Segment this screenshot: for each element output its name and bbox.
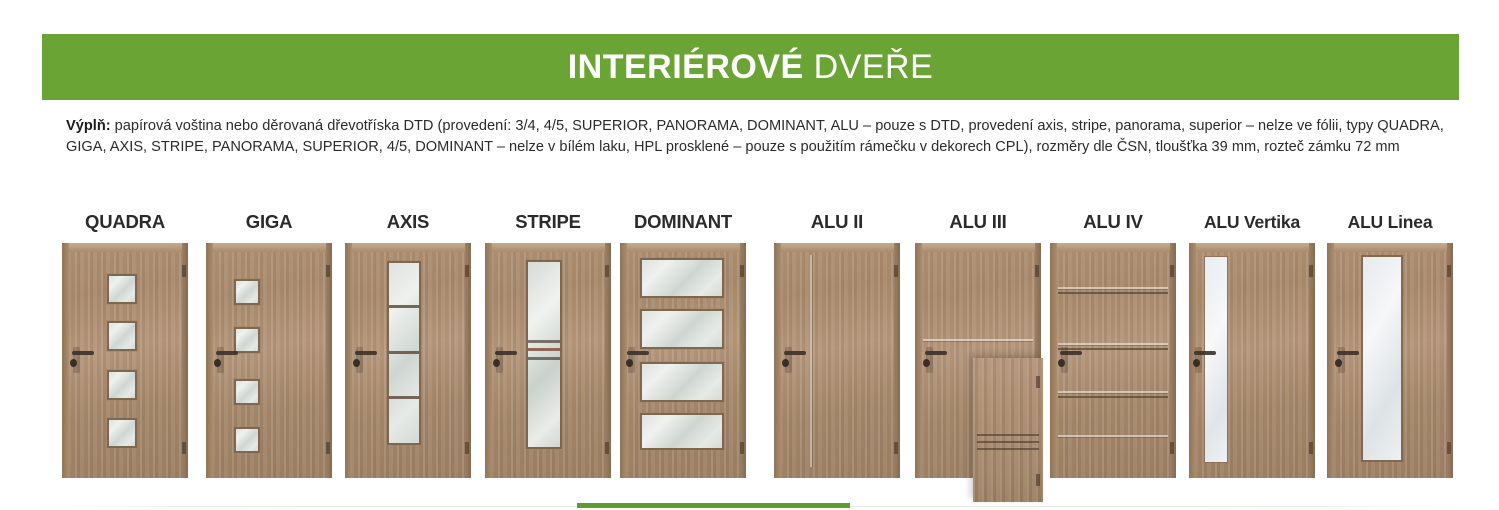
- door-keyhole: [626, 359, 633, 367]
- door-image-axis: [345, 243, 471, 478]
- door-handle: [72, 351, 94, 355]
- aluminium-inlay-horizontal: [1058, 435, 1168, 437]
- door-image-giga: [206, 243, 332, 478]
- description-lead-label: Výplň:: [66, 118, 111, 134]
- glass-panel: [1363, 257, 1401, 460]
- door-label-stripe: STRIPE: [485, 210, 611, 238]
- glass-muntin: [389, 351, 419, 354]
- door-card-alu-linea[interactable]: ALU Linea: [1327, 210, 1453, 478]
- door-left-jamb: [485, 243, 492, 478]
- door-hinge-bottom: [465, 442, 469, 454]
- door-keyhole: [1058, 359, 1065, 367]
- door-top-rail: [1196, 243, 1309, 252]
- door-hinge-bottom: [1036, 474, 1040, 486]
- glass-panel: [642, 364, 722, 400]
- door-left-jamb: [1327, 243, 1334, 478]
- door-top-rail: [352, 243, 465, 252]
- door-hinge-top: [1035, 265, 1039, 277]
- door-models-grid: QUADRA GIGA: [0, 210, 1499, 510]
- glass-stripe-line: [528, 357, 560, 360]
- door-left-jamb: [62, 243, 69, 478]
- door-handle: [1337, 351, 1359, 355]
- door-image-alu-iv: [1050, 243, 1176, 478]
- aluminium-inlay-vertical: [810, 255, 812, 467]
- door-top-rail: [213, 243, 326, 252]
- door-hinge-bottom: [182, 442, 186, 454]
- aluminium-inlay-horizontal: [1058, 391, 1168, 393]
- glass-stripe-line: [528, 348, 560, 351]
- door-handle: [1060, 351, 1082, 355]
- door-top-rail: [69, 243, 182, 252]
- description-body-text: papírová voština nebo děrovaná dřevotřís…: [66, 118, 1444, 155]
- door-handle: [1194, 351, 1216, 355]
- door-card-alu-vertika[interactable]: ALU Vertika: [1189, 210, 1315, 478]
- door-keyhole: [214, 359, 221, 367]
- glass-panel: [236, 329, 258, 351]
- footer-accent-bar: [577, 503, 850, 508]
- door-hinge-top: [894, 265, 898, 277]
- door-hinge-top: [1447, 265, 1451, 277]
- door-handle: [925, 351, 947, 355]
- door-label-axis: AXIS: [345, 210, 471, 238]
- glass-stripe-line: [528, 340, 560, 343]
- door-left-jamb: [206, 243, 213, 478]
- glass-panel: [1205, 257, 1227, 462]
- door-card-alu-iv[interactable]: ALU IV: [1050, 210, 1176, 478]
- aluminium-inlay-horizontal: [977, 448, 1039, 450]
- glass-panel: [642, 415, 722, 448]
- door-image-stripe: [485, 243, 611, 478]
- door-hinge-bottom: [894, 442, 898, 454]
- door-left-jamb: [1050, 243, 1057, 478]
- door-keyhole: [493, 359, 500, 367]
- aluminium-inlay-horizontal: [1058, 292, 1168, 294]
- door-image-alu-ii: [774, 243, 900, 478]
- door-handle: [216, 351, 238, 355]
- page-title-light: DVEŘE: [814, 48, 934, 86]
- door-image-alu-vertika: [1189, 243, 1315, 478]
- door-hinge-bottom: [605, 442, 609, 454]
- aluminium-inlay-horizontal: [923, 339, 1033, 341]
- glass-panel: [642, 311, 722, 347]
- door-label-giga: GIGA: [206, 210, 332, 238]
- door-top-rail: [1334, 243, 1447, 252]
- door-card-quadra[interactable]: QUADRA: [62, 210, 188, 478]
- glass-panel: [389, 263, 419, 443]
- door-left-jamb: [345, 243, 352, 478]
- glass-muntin: [389, 305, 419, 308]
- door-top-rail: [781, 243, 894, 252]
- door-hinge-bottom: [1447, 442, 1451, 454]
- door-card-giga[interactable]: GIGA: [206, 210, 332, 478]
- glass-panel: [109, 276, 135, 302]
- door-card-stripe[interactable]: STRIPE: [485, 210, 611, 478]
- door-label-alu-iii: ALU III: [915, 210, 1041, 238]
- door-left-jamb: [915, 243, 922, 478]
- door-hinge-top: [1170, 265, 1174, 277]
- door-hinge-top: [1309, 265, 1313, 277]
- door-keyhole: [923, 359, 930, 367]
- door-handle: [627, 351, 649, 355]
- door-card-alu-ii[interactable]: ALU II: [774, 210, 900, 478]
- door-handle: [495, 351, 517, 355]
- door-label-alu-linea: ALU Linea: [1327, 210, 1453, 238]
- glass-panel: [109, 372, 135, 398]
- door-image-dominant: [620, 243, 746, 478]
- glass-panel: [236, 281, 258, 303]
- door-label-alu-vertika: ALU Vertika: [1189, 210, 1315, 238]
- glass-panel: [528, 262, 560, 447]
- door-hinge-bottom: [1170, 442, 1174, 454]
- page-header-banner: INTERIÉROVÉ DVEŘE: [42, 34, 1459, 100]
- glass-muntin: [389, 396, 419, 399]
- door-handle: [355, 351, 377, 355]
- aluminium-inlay-horizontal: [977, 434, 1039, 436]
- door-label-alu-ii: ALU II: [774, 210, 900, 238]
- door-top-rail: [922, 243, 1035, 252]
- door-hinge-bottom: [740, 442, 744, 454]
- door-keyhole: [782, 359, 789, 367]
- door-label-alu-iv: ALU IV: [1050, 210, 1176, 238]
- glass-panel: [236, 381, 258, 403]
- door-keyhole: [1193, 359, 1200, 367]
- aluminium-inlay-horizontal: [977, 441, 1039, 443]
- aluminium-inlay-horizontal: [1058, 343, 1168, 345]
- page-title-bold: INTERIÉROVÉ: [568, 48, 804, 86]
- door-keyhole: [1335, 359, 1342, 367]
- door-hinge-top: [740, 265, 744, 277]
- door-label-dominant: DOMINANT: [620, 210, 746, 238]
- door-image-quadra: [62, 243, 188, 478]
- door-hinge-top: [326, 265, 330, 277]
- door-left-jamb: [774, 243, 781, 478]
- door-image-alu-iii-overlay-panel: [973, 358, 1043, 502]
- door-hinge-bottom: [326, 442, 330, 454]
- glass-panel: [642, 260, 722, 296]
- door-hinge-bottom: [1309, 442, 1313, 454]
- door-card-dominant[interactable]: DOMINANT: [620, 210, 746, 478]
- glass-panel: [109, 420, 135, 446]
- door-top-rail: [1057, 243, 1170, 252]
- door-top-rail: [627, 243, 740, 252]
- door-handle: [784, 351, 806, 355]
- aluminium-inlay-horizontal: [1058, 348, 1168, 350]
- door-hinge-top: [182, 265, 186, 277]
- description-paragraph: Výplň: papírová voština nebo děrovaná dř…: [66, 116, 1456, 158]
- door-card-axis[interactable]: AXIS: [345, 210, 471, 478]
- glass-panel: [109, 323, 135, 349]
- door-image-alu-linea: [1327, 243, 1453, 478]
- page-title: INTERIÉROVÉ DVEŘE: [568, 50, 934, 84]
- door-hinge-top: [605, 265, 609, 277]
- door-label-quadra: QUADRA: [62, 210, 188, 238]
- aluminium-inlay-horizontal: [1058, 396, 1168, 398]
- glass-panel: [236, 429, 258, 451]
- door-keyhole: [70, 359, 77, 367]
- interior-doors-catalog-page: INTERIÉROVÉ DVEŘE Výplň: papírová voštin…: [0, 0, 1499, 510]
- door-hinge-top: [465, 265, 469, 277]
- door-top-rail: [492, 243, 605, 252]
- door-keyhole: [353, 359, 360, 367]
- aluminium-inlay-horizontal: [1058, 287, 1168, 289]
- door-hinge-top: [1036, 376, 1040, 388]
